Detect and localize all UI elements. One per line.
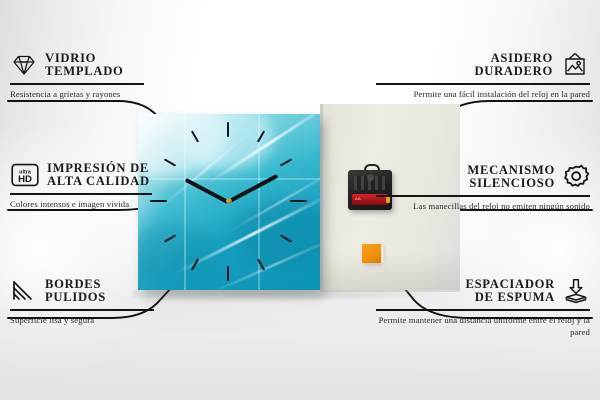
feature-title: ASIDERO DURADERO xyxy=(474,52,553,78)
feature-caption: Resistencia a grietas y rayones xyxy=(10,89,138,101)
feature-title: ESPACIADOR DE ESPUMA xyxy=(465,278,555,304)
feature-divider xyxy=(376,195,590,197)
feature-caption: Permite una fácil instalación del reloj … xyxy=(376,89,590,101)
feature-title-line2: DURADERO xyxy=(474,65,553,78)
clock-center-hub xyxy=(226,198,232,204)
ultra-hd-badge-icon: ultra HD xyxy=(10,162,40,188)
battery-label: AA xyxy=(355,196,361,201)
feature-caption: Superficie lisa y segura xyxy=(10,315,150,327)
feature-title: IMPRESIÓN DE ALTA CALIDAD xyxy=(47,162,150,188)
feature-foam-spacer: ESPACIADOR DE ESPUMA Permite mantener un… xyxy=(376,278,590,338)
picture-frame-hanging-icon xyxy=(560,52,590,78)
feature-tempered-glass: VIDRIO TEMPLADO Resistencia a grietas y … xyxy=(10,52,224,101)
feature-caption: Las manecillas del reloj no emiten ningú… xyxy=(376,201,590,213)
gear-icon xyxy=(562,164,590,190)
feature-title-line2: TEMPLADO xyxy=(45,65,124,78)
foam-spacer-pad xyxy=(362,244,381,263)
feature-header: ESPACIADOR DE ESPUMA xyxy=(376,278,590,304)
feature-title-line2: SILENCIOSO xyxy=(469,177,555,190)
press-down-foam-icon xyxy=(562,278,590,304)
feature-hd-print: ultra HD IMPRESIÓN DE ALTA CALIDAD Color… xyxy=(10,162,224,211)
infographic-canvas: AA VIDRIO TEMPLADO Resistencia a grietas… xyxy=(0,0,600,400)
tick-12 xyxy=(227,122,229,137)
feature-divider xyxy=(10,309,154,311)
feature-polished-edges: BORDES PULIDOS Superficie lisa y segura xyxy=(10,278,224,327)
feature-divider xyxy=(10,193,152,195)
feature-title-line2: ALTA CALIDAD xyxy=(47,175,150,188)
feature-silent-mechanism: MECANISMO SILENCIOSO Las manecillas del … xyxy=(376,164,590,213)
feature-caption: Colores intensos e imagen vívida xyxy=(10,199,140,211)
tick-3 xyxy=(290,200,307,202)
badge-text-main: HD xyxy=(18,174,32,185)
foam-spacer-side xyxy=(381,245,386,263)
feature-header: BORDES PULIDOS xyxy=(10,278,224,304)
feature-divider xyxy=(376,309,590,311)
feature-divider xyxy=(376,83,590,85)
feature-title-line2: PULIDOS xyxy=(45,291,106,304)
feature-title: VIDRIO TEMPLADO xyxy=(45,52,124,78)
feature-header: VIDRIO TEMPLADO xyxy=(10,52,224,78)
polished-edges-icon xyxy=(10,279,38,303)
feature-header: ASIDERO DURADERO xyxy=(376,52,590,78)
tick-6 xyxy=(227,266,229,281)
diamond-icon xyxy=(10,53,38,77)
feature-title-line2: DE ESPUMA xyxy=(475,291,555,304)
mechanism-shaft xyxy=(367,174,374,181)
feature-header: MECANISMO SILENCIOSO xyxy=(376,164,590,190)
feature-caption: Permite mantener una distancia uniforme … xyxy=(376,315,590,339)
feature-title: MECANISMO SILENCIOSO xyxy=(467,164,555,190)
feature-title: BORDES PULIDOS xyxy=(45,278,106,304)
feature-durable-hanger: ASIDERO DURADERO Permite una fácil insta… xyxy=(376,52,590,101)
feature-header: ultra HD IMPRESIÓN DE ALTA CALIDAD xyxy=(10,162,224,188)
feature-divider xyxy=(10,83,144,85)
